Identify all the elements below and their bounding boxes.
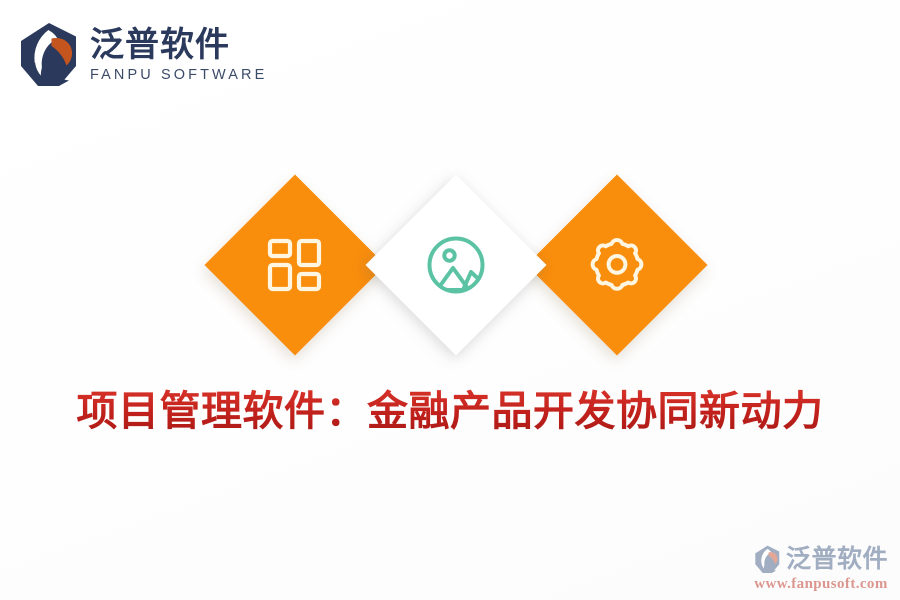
watermark-brand-name: 泛普软件 — [786, 547, 888, 572]
image-photo-icon — [423, 232, 489, 298]
brand-name-en: FANPU SOFTWARE — [90, 68, 267, 84]
brand-wordmark: 泛普软件 FANPU SOFTWARE — [90, 26, 267, 84]
diamond-graphic-cluster — [0, 0, 900, 600]
diamond-right-icon-holder — [553, 201, 681, 329]
watermark-url: www.fanpusoft.com — [754, 576, 887, 593]
fanpu-hexagon-logo-icon — [754, 545, 781, 574]
diamond-left-apps — [204, 174, 385, 355]
watermark-brand-row: 泛普软件 — [754, 545, 888, 574]
diamond-right-settings — [526, 174, 707, 355]
diamond-center-media — [365, 174, 546, 355]
diamond-center-icon-holder — [392, 201, 520, 329]
page-title: 项目管理软件：金融产品开发协同新动力 — [0, 386, 900, 437]
fanpu-hexagon-logo-icon — [18, 22, 80, 88]
gear-settings-icon — [586, 234, 648, 296]
brand-name-cn: 泛普软件 — [90, 28, 267, 64]
watermark: 泛普软件 www.fanpusoft.com — [754, 545, 888, 593]
banner-canvas: 泛普软件 FANPU SOFTWARE — [0, 0, 900, 600]
grid-apps-icon — [266, 236, 324, 294]
brand-logo[interactable]: 泛普软件 FANPU SOFTWARE — [18, 22, 267, 88]
diamond-left-icon-holder — [231, 201, 359, 329]
